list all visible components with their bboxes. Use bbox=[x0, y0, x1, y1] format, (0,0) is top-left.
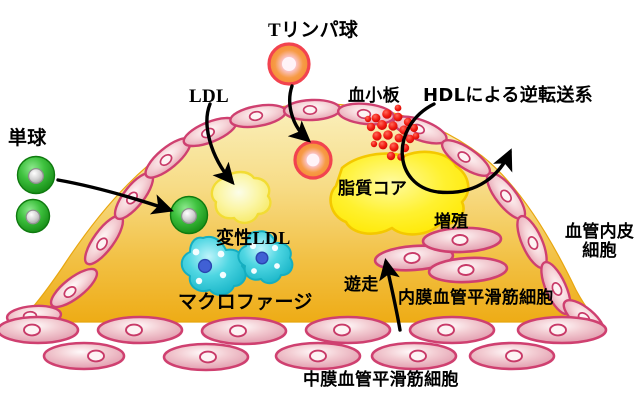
medial-smc-cell bbox=[306, 317, 390, 343]
medial-smc-cell bbox=[410, 317, 494, 343]
plaque-diagram-svg bbox=[0, 0, 640, 400]
label-medial-smc: 中膜血管平滑筋細胞 bbox=[303, 370, 459, 389]
label-macrophage: マクロファージ bbox=[178, 292, 313, 313]
label-intimal-smc: 内膜血管平滑筋細胞 bbox=[398, 288, 554, 307]
monocyte-cell bbox=[171, 197, 208, 234]
label-ldl: LDL bbox=[189, 86, 229, 107]
label-proliferation: 増殖 bbox=[434, 212, 469, 231]
monocyte-cell bbox=[18, 157, 55, 194]
label-endothelial-cell: 血管内皮 細胞 bbox=[565, 222, 634, 260]
t-lymphocyte-cell bbox=[295, 142, 331, 178]
medial-smc-cell bbox=[276, 343, 360, 369]
label-modified-ldl: 変性LDL bbox=[216, 228, 291, 248]
medial-smc-cell bbox=[372, 343, 456, 369]
medial-smc-cell bbox=[0, 317, 78, 343]
t-lymphocyte-cell bbox=[269, 44, 309, 84]
medial-smc-cell bbox=[202, 318, 286, 344]
medial-smc-cell bbox=[44, 343, 124, 369]
monocyte-cell bbox=[17, 200, 50, 233]
label-lipid-core: 脂質コア bbox=[338, 180, 407, 199]
medial-smc-cell bbox=[518, 317, 606, 343]
label-platelet: 血小板 bbox=[348, 86, 400, 105]
medial-smc-cell bbox=[98, 317, 182, 343]
label-hdl-reverse-transport: HDLによる逆転送系 bbox=[423, 86, 593, 106]
label-migration: 遊走 bbox=[344, 275, 379, 294]
figure-canvas: 単球 LDL Tリンパ球 血小板 HDLによる逆転送系 変性LDL 脂質コア 増… bbox=[0, 0, 640, 400]
medial-smc-row-2 bbox=[44, 343, 554, 370]
label-monocyte: 単球 bbox=[8, 128, 47, 149]
medial-smc-cell bbox=[470, 343, 554, 369]
medial-smc-cell bbox=[164, 344, 248, 370]
label-t-lymphocyte: Tリンパ球 bbox=[268, 20, 358, 41]
